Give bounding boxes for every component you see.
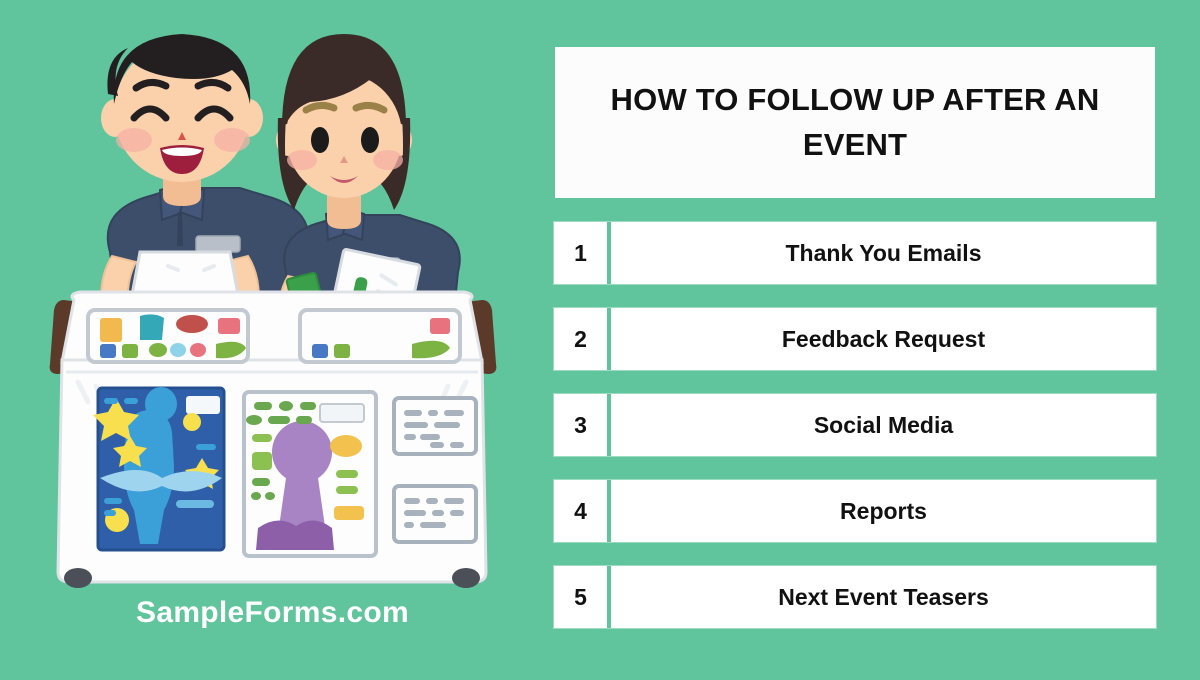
- list-item[interactable]: 5 Next Event Teasers: [553, 565, 1157, 629]
- list-item-number: 1: [554, 222, 607, 284]
- list-item-label: Thank You Emails: [611, 222, 1156, 284]
- list-item[interactable]: 4 Reports: [553, 479, 1157, 543]
- infographic-canvas: SampleForms.com HOW TO FOLLOW UP AFTER A…: [0, 0, 1200, 675]
- list-item-number: 5: [554, 566, 607, 628]
- booth-table: [50, 292, 497, 588]
- blue-star-poster: [93, 387, 224, 550]
- list-item-number: 2: [554, 308, 607, 370]
- purple-figure-poster: [244, 392, 376, 556]
- list-item-number: 4: [554, 480, 607, 542]
- title-card: HOW TO FOLLOW UP AFTER AN EVENT: [555, 47, 1155, 198]
- list-item[interactable]: 3 Social Media: [553, 393, 1157, 457]
- event-booth-staff-illustration: SampleForms.com: [0, 0, 545, 675]
- list-item-label: Next Event Teasers: [611, 566, 1156, 628]
- steps-list: 1 Thank You Emails 2 Feedback Request 3 …: [553, 221, 1157, 629]
- list-item-label: Feedback Request: [611, 308, 1156, 370]
- illustration-svg: [0, 0, 545, 675]
- list-item[interactable]: 1 Thank You Emails: [553, 221, 1157, 285]
- gray-text-panel-bottom: [394, 486, 476, 542]
- list-item-label: Reports: [611, 480, 1156, 542]
- watermark-sampleforms: SampleForms.com: [0, 596, 545, 630]
- gray-text-panel-top: [394, 398, 476, 454]
- list-item-number: 3: [554, 394, 607, 456]
- list-item-label: Social Media: [611, 394, 1156, 456]
- list-item[interactable]: 2 Feedback Request: [553, 307, 1157, 371]
- page-title: HOW TO FOLLOW UP AFTER AN EVENT: [581, 78, 1129, 166]
